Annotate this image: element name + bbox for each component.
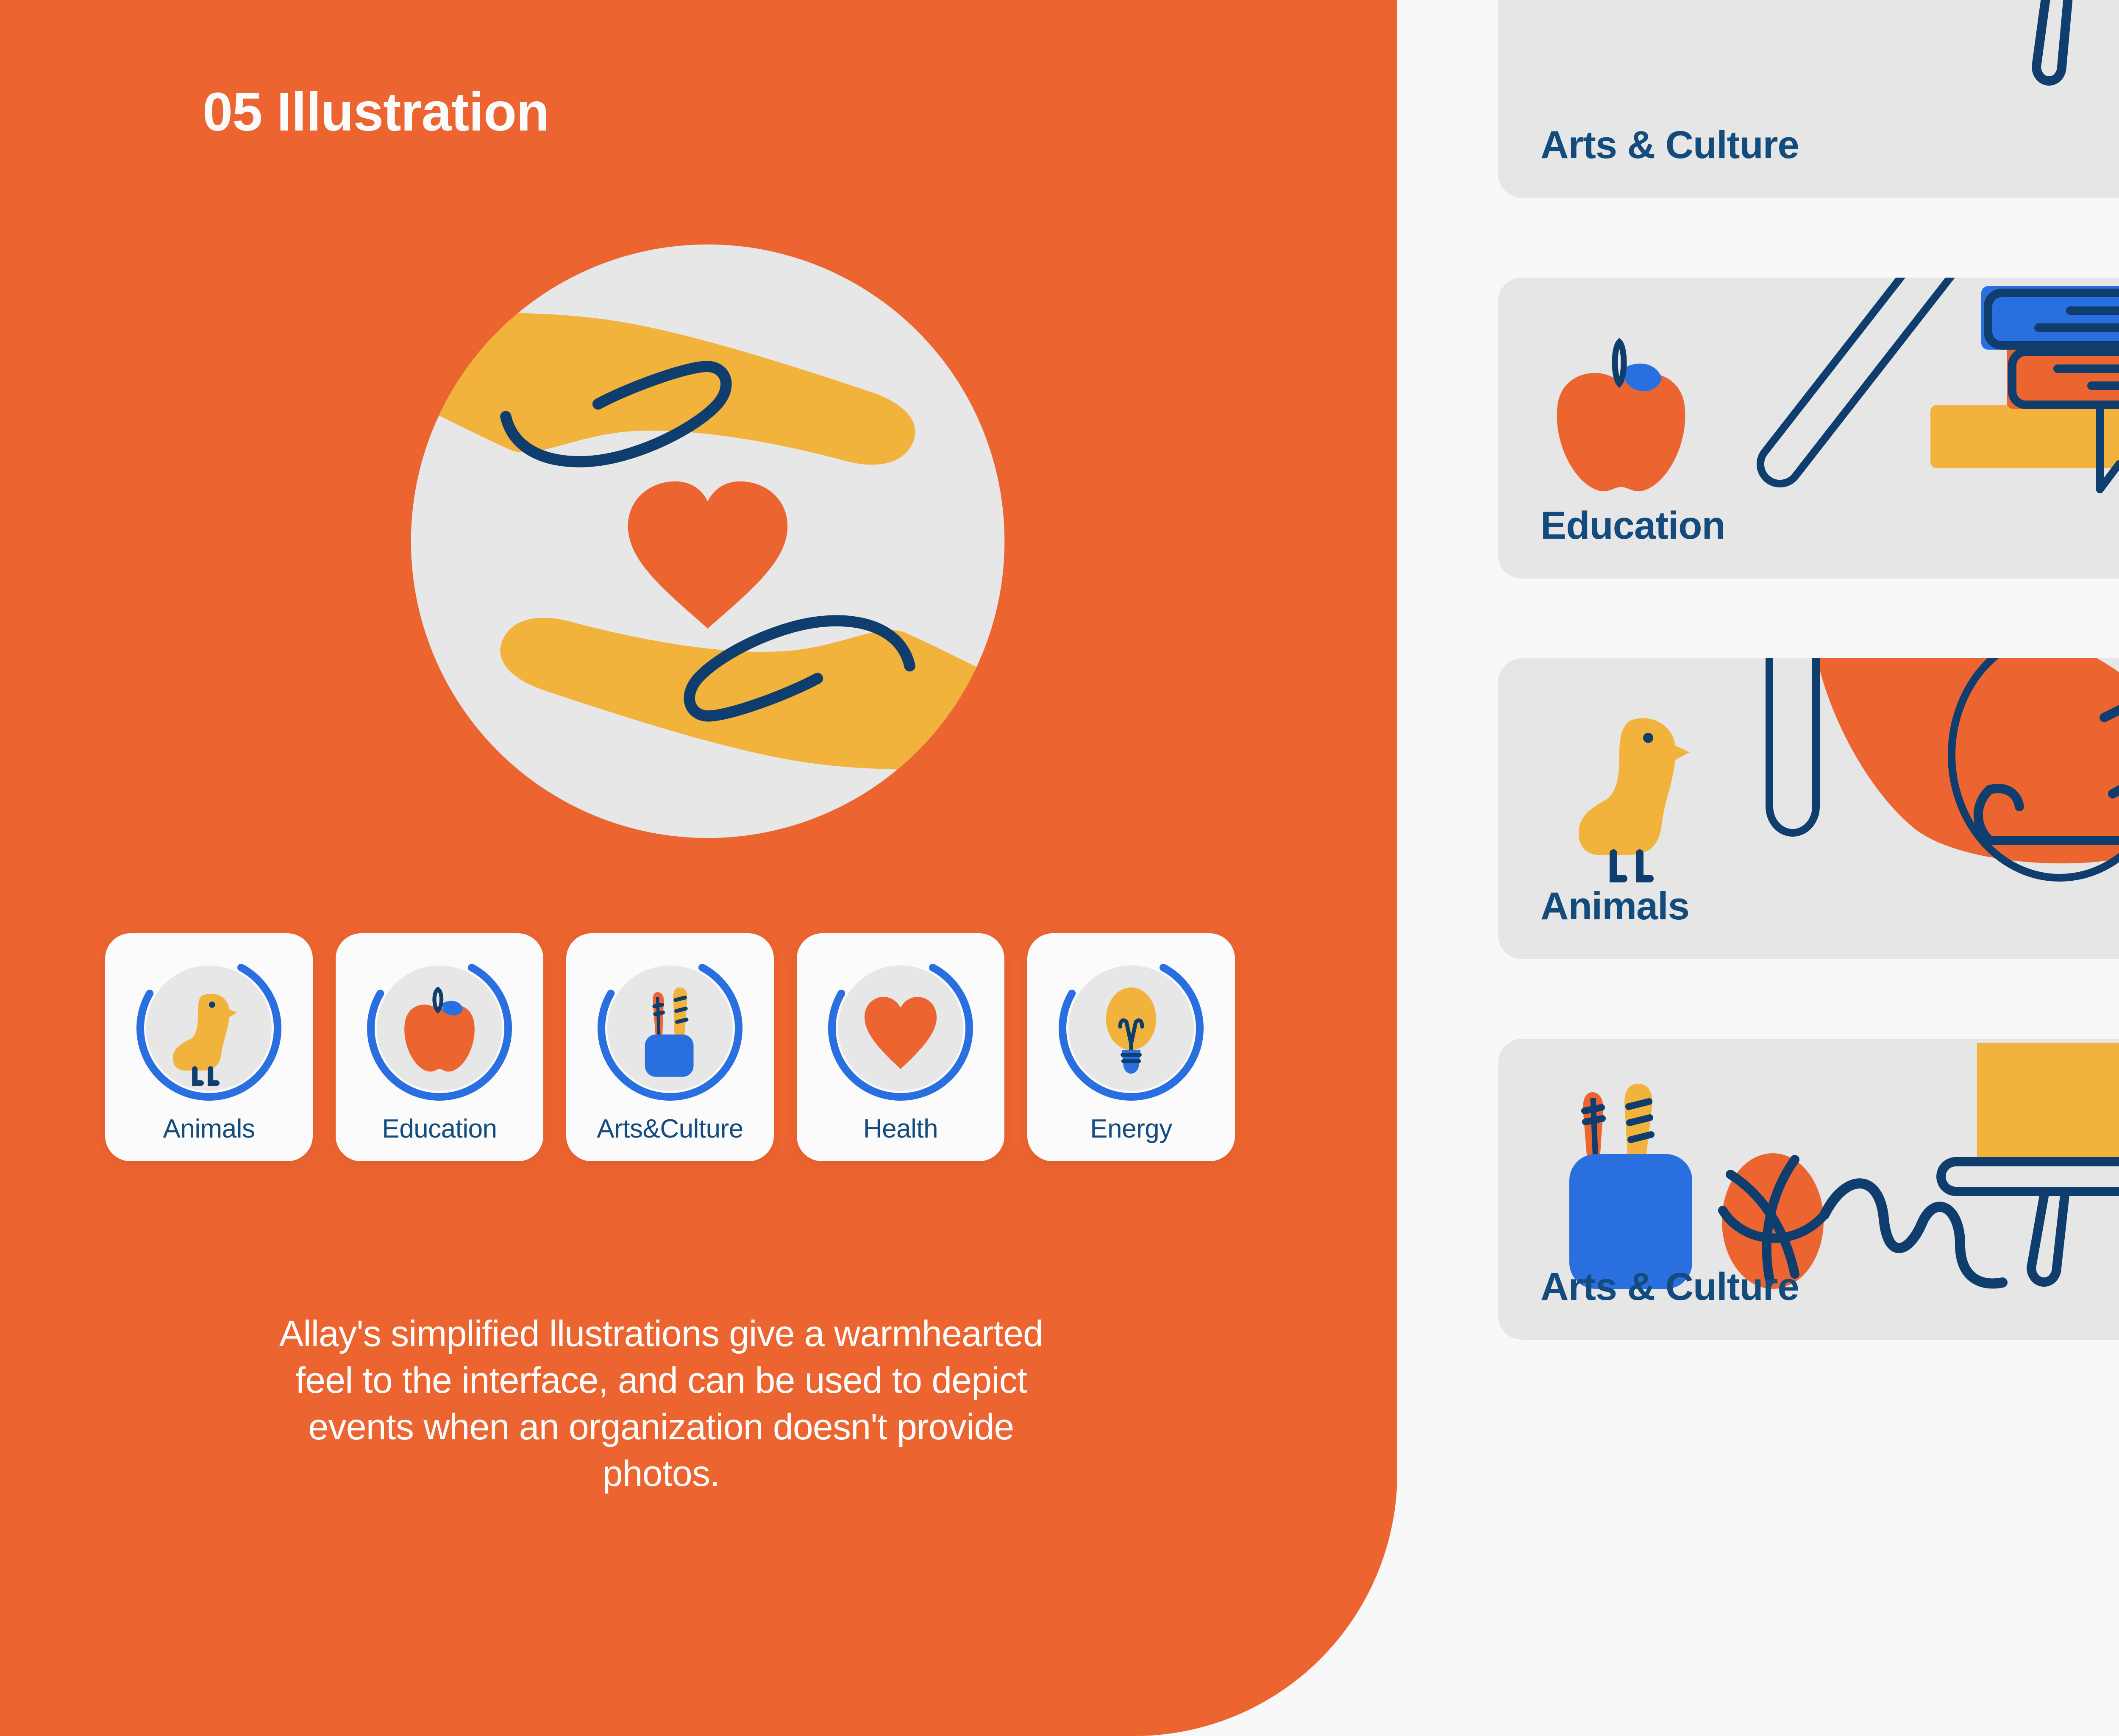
chip-animals[interactable]: Animals: [105, 933, 313, 1161]
chip-label: Health: [863, 1114, 938, 1144]
card-animals[interactable]: Animals: [1498, 658, 2119, 959]
category-chip-row: Animals Educa: [105, 933, 1304, 1161]
hero-description: Allay's simplified llustrations give a w…: [254, 1310, 1068, 1497]
card-arts-culture-bottom[interactable]: Arts & Culture: [1498, 1039, 2119, 1340]
chip-label: Energy: [1090, 1114, 1172, 1144]
chip-energy[interactable]: Energy: [1027, 933, 1235, 1161]
hands-holding-heart-illustration: [384, 217, 1032, 865]
card-title: Arts & Culture: [1541, 1265, 1799, 1309]
apple-icon: [377, 965, 502, 1091]
chip-health[interactable]: Health: [797, 933, 1004, 1161]
card-title: Arts & Culture: [1541, 123, 1799, 167]
chip-badge: [134, 954, 284, 1103]
chip-label: Arts&Culture: [597, 1114, 743, 1144]
heart-icon: [838, 965, 963, 1091]
pencil-cup-icon: [607, 965, 733, 1091]
chip-label: Animals: [163, 1114, 255, 1144]
category-card-column: Arts & Culture: [1498, 0, 2119, 1340]
chip-education[interactable]: Education: [336, 933, 543, 1161]
hero-panel: 05 Illustration: [0, 0, 1397, 1736]
card-arts-culture-top[interactable]: Arts & Culture: [1498, 0, 2119, 198]
lightbulb-icon: [1068, 965, 1194, 1091]
illustration-style-page: 05 Illustration: [0, 0, 2119, 1736]
card-title: Education: [1541, 504, 1725, 548]
card-title: Animals: [1541, 884, 1689, 929]
chip-badge: [595, 954, 745, 1103]
chip-badge: [826, 954, 975, 1103]
chip-label: Education: [382, 1114, 497, 1144]
chip-arts-culture[interactable]: Arts&Culture: [566, 933, 774, 1161]
card-education[interactable]: Education: [1498, 278, 2119, 579]
chip-badge: [1057, 954, 1206, 1103]
pencil-cup-yarn-easel-illustration: [1498, 0, 2119, 198]
chip-badge: [365, 954, 514, 1103]
page-title: 05 Illustration: [203, 84, 549, 141]
bird-icon: [146, 965, 272, 1091]
